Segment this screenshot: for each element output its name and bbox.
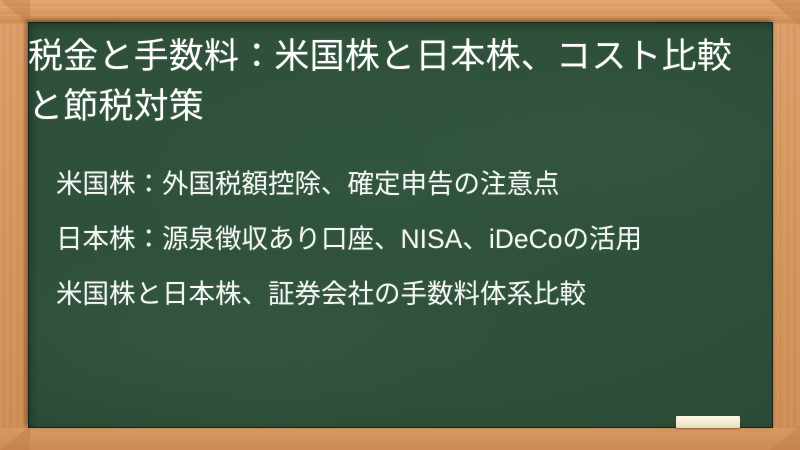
bullet-item: 日本株：源泉徴収あり口座、NISA、iDeCoの活用 [56, 212, 756, 267]
frame-mitre-top-right [770, 0, 800, 26]
blackboard-content: 税金と手数料：米国株と日本株、コスト比較と節税対策 米国株：外国税額控除、確定申… [28, 22, 773, 428]
frame-mitre-top-left [0, 0, 30, 26]
slide-canvas: 税金と手数料：米国株と日本株、コスト比較と節税対策 米国株：外国税額控除、確定申… [0, 0, 800, 450]
bullet-item: 米国株と日本株、証券会社の手数料体系比較 [56, 267, 756, 322]
frame-rail-top [0, 0, 800, 24]
bullet-item: 米国株：外国税額控除、確定申告の注意点 [56, 157, 756, 212]
slide-title-text: 税金と手数料：米国株と日本株、コスト比較と節税対策 [28, 32, 759, 132]
frame-mitre-bottom-right [770, 426, 800, 450]
blackboard: 税金と手数料：米国株と日本株、コスト比較と節税対策 米国株：外国税額控除、確定申… [28, 22, 773, 428]
slide-title: 税金と手数料：米国株と日本株、コスト比較と節税対策 [28, 32, 763, 132]
frame-mitre-bottom-left [0, 426, 30, 450]
frame-rail-bottom [0, 428, 800, 450]
bullet-list: 米国株：外国税額控除、確定申告の注意点 日本株：源泉徴収あり口座、NISA、iD… [56, 157, 756, 322]
chalk-stick-icon [676, 416, 740, 428]
